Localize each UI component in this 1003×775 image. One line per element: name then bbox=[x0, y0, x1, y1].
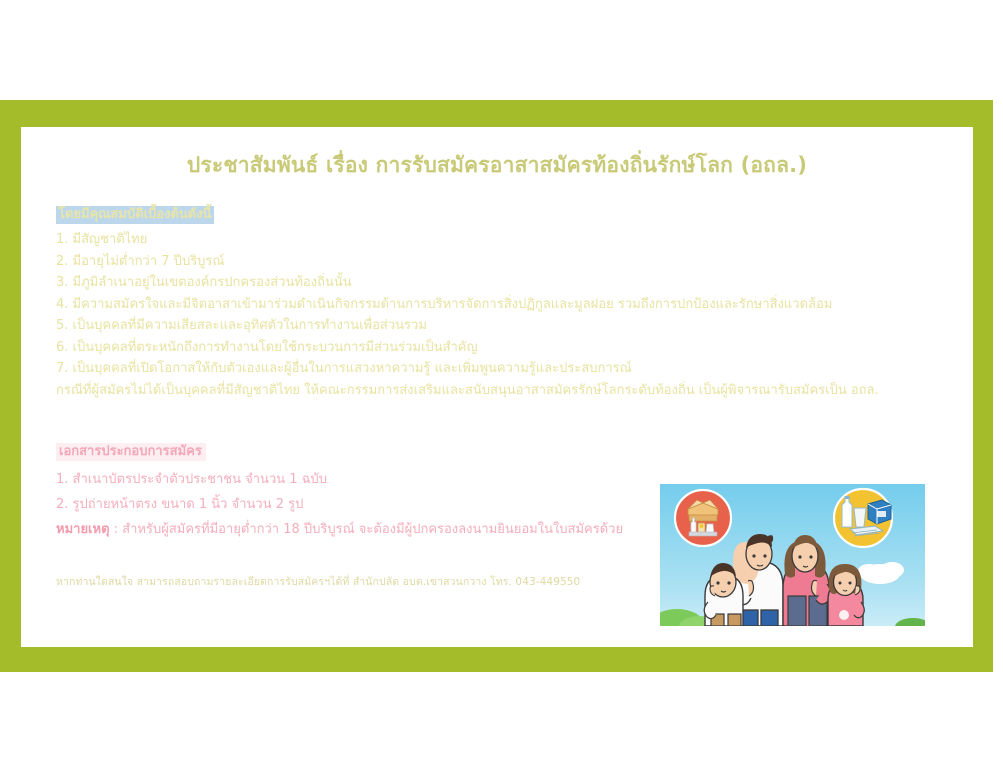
list-item: 5. เป็นบุคคลที่มีความเสียสละและอุทิศตัวใ… bbox=[56, 315, 856, 337]
list-item: 7. เป็นบุคคลที่เปิดโอกาสให้กับตัวเองและผ… bbox=[56, 358, 856, 380]
list-item: 4. มีความสมัครใจและมีจิตอาสาเข้ามาร่วมดำ… bbox=[56, 294, 856, 316]
documents-remark: หมายเหตุ : สำหรับผู้สมัครที่มีอายุต่ำกว่… bbox=[56, 517, 676, 542]
documents-section: เอกสารประกอบการสมัคร 1. สำเนาบัตรประจำตั… bbox=[56, 440, 676, 542]
list-item: 2. มีอายุไม่ต่ำกว่า 7 ปีบริบูรณ์ bbox=[56, 251, 856, 273]
footer-contact: หากท่านใดสนใจ สามารถสอบถามรายละเอียดการร… bbox=[56, 573, 580, 590]
qualifications-note: กรณีที่ผู้สมัครไม่ได้เป็นบุคคลที่มีสัญชา… bbox=[56, 380, 856, 402]
qualifications-list: 1. มีสัญชาติไทย 2. มีอายุไม่ต่ำกว่า 7 ปี… bbox=[56, 229, 856, 380]
remark-separator: : bbox=[110, 522, 123, 537]
list-item: 2. รูปถ่ายหน้าตรง ขนาด 1 นิ้ว จำนวน 2 รู… bbox=[56, 492, 676, 517]
poster-sheet: ประชาสัมพันธ์ เรื่อง การรับสมัครอาสาสมัค… bbox=[21, 127, 973, 647]
qualifications-heading: โดยมีคุณสมบัติเบื้องต้นดังนี้ bbox=[56, 206, 214, 224]
list-item: 6. เป็นบุคคลที่ตระหนักถึงการทำงานโดยใช้ก… bbox=[56, 337, 856, 359]
remark-text: สำหรับผู้สมัครที่มีอายุต่ำกว่า 18 ปีบริบ… bbox=[122, 522, 623, 537]
green-border-frame: ประชาสัมพันธ์ เรื่อง การรับสมัครอาสาสมัค… bbox=[0, 100, 993, 672]
qualifications-section: โดยมีคุณสมบัติเบื้องต้นดังนี้ 1. มีสัญชา… bbox=[56, 203, 856, 401]
remark-label: หมายเหตุ bbox=[56, 522, 110, 537]
list-item: 1. มีสัญชาติไทย bbox=[56, 229, 856, 251]
list-item: 3. มีภูมิลำเนาอยู่ในเขตองค์กรปกครองส่วนท… bbox=[56, 272, 856, 294]
poster-page: ประชาสัมพันธ์ เรื่อง การรับสมัครอาสาสมัค… bbox=[0, 0, 1003, 775]
documents-heading: เอกสารประกอบการสมัคร bbox=[56, 443, 206, 461]
family-waste-sorting-illustration bbox=[655, 478, 930, 630]
list-item: 1. สำเนาบัตรประจำตัวประชาชน จำนวน 1 ฉบับ bbox=[56, 467, 676, 492]
documents-list: 1. สำเนาบัตรประจำตัวประชาชน จำนวน 1 ฉบับ… bbox=[56, 467, 676, 517]
page-title: ประชาสัมพันธ์ เรื่อง การรับสมัครอาสาสมัค… bbox=[21, 149, 973, 182]
